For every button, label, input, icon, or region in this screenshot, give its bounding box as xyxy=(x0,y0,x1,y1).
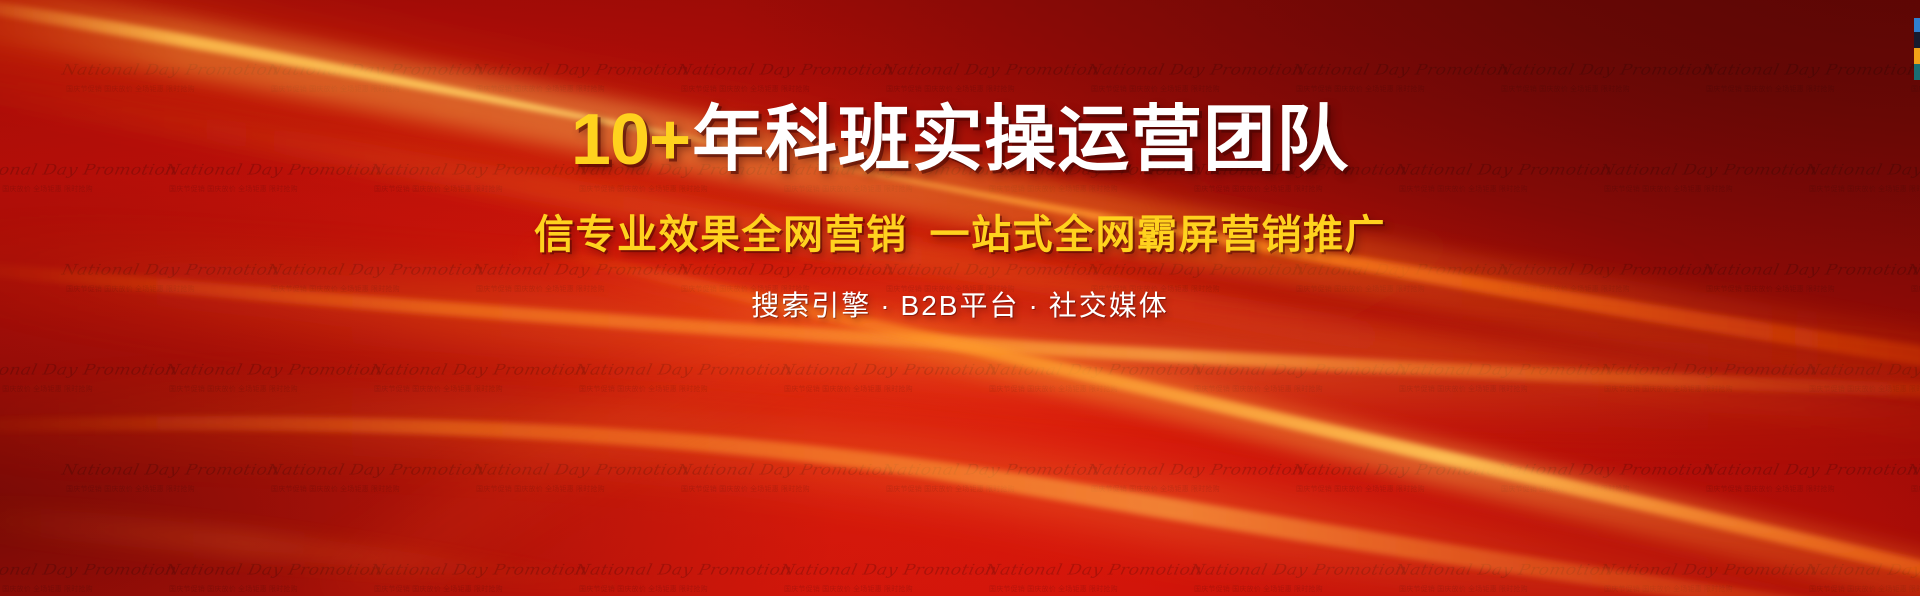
tagline-item-search-engine: 搜索引擎 xyxy=(751,290,871,321)
headline-text: 年科班实操运营团队 xyxy=(692,100,1349,180)
tagline: 搜索引擎·B2B平台·社交媒体 xyxy=(751,284,1169,324)
subheadline: 信专业效果全网营销一站式全网霸屏营销推广 xyxy=(534,202,1386,260)
promo-banner: National Day Promotion国庆节促销 国庆放价 全场钜惠 限时… xyxy=(0,0,1920,596)
sliver-segment-amber xyxy=(1914,48,1920,64)
subheadline-right: 一站式全网霸屏营销推广 xyxy=(930,213,1387,257)
tagline-separator-dot: · xyxy=(880,290,891,321)
sliver-segment-blue xyxy=(1914,18,1920,32)
tagline-separator-dot: · xyxy=(1028,290,1039,321)
tagline-item-b2b-platform: B2B平台 xyxy=(901,290,1020,321)
banner-content: 10+年科班实操运营团队 信专业效果全网营销一站式全网霸屏营销推广 搜索引擎·B… xyxy=(0,0,1920,596)
headline: 10+年科班实操运营团队 xyxy=(571,104,1349,176)
tagline-item-social-media: 社交媒体 xyxy=(1049,290,1169,321)
subheadline-left: 信专业效果全网营销 xyxy=(534,213,908,257)
sliver-segment-teal xyxy=(1914,64,1920,80)
headline-number: 10+ xyxy=(571,100,690,180)
sliver-segment-dark xyxy=(1914,32,1920,48)
carousel-edge-sliver[interactable] xyxy=(1914,18,1920,80)
